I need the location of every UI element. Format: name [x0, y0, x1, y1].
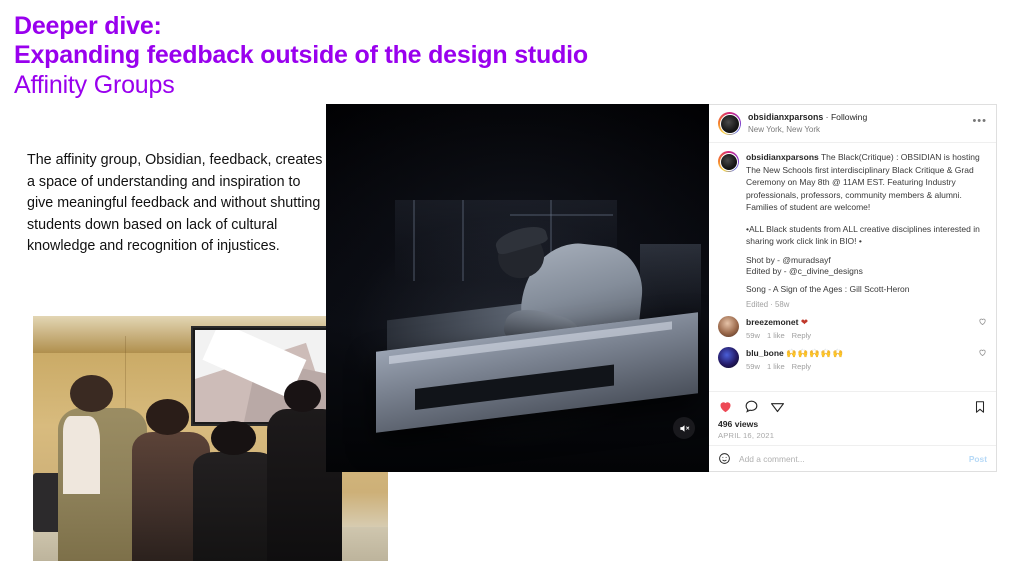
post-header-text: obsidianxparsons · Following New York, N…	[748, 112, 965, 135]
comment-meta: 59w 1 like Reply	[746, 331, 971, 340]
comment-meta: 59w 1 like Reply	[746, 362, 971, 371]
instagram-video[interactable]	[326, 104, 709, 472]
page-title: Deeper dive: Expanding feedback outside …	[14, 12, 714, 101]
comment-reply-button[interactable]: Reply	[792, 331, 811, 340]
header-separator: ·	[826, 112, 829, 122]
ellipsis-icon[interactable]: •••	[972, 117, 987, 130]
post-action-bar	[709, 391, 996, 419]
slide-canvas: Deeper dive: Expanding feedback outside …	[0, 0, 1024, 576]
share-paperplane-icon[interactable]	[770, 399, 785, 416]
person-head	[146, 399, 189, 435]
person-shirt	[63, 416, 100, 494]
comment-username[interactable]: breezemonet	[746, 317, 798, 327]
title-line-1: Deeper dive:	[14, 12, 714, 41]
avatar[interactable]	[718, 347, 739, 368]
avatar[interactable]	[718, 151, 739, 172]
avatar[interactable]	[718, 316, 739, 337]
comment-item: breezemonet ❤ 59w 1 like Reply	[718, 309, 987, 340]
comment-emoji: ❤	[801, 317, 808, 327]
person-head	[211, 421, 255, 455]
title-line-2: Expanding feedback outside of the design…	[14, 41, 714, 70]
comment-likes[interactable]: 1 like	[767, 362, 785, 371]
caption-text: obsidianxparsons The Black(Critique) : O…	[746, 151, 987, 214]
comment-content: blu_bone 🙌🙌🙌🙌🙌 59w 1 like Reply	[746, 347, 971, 371]
comment-likes[interactable]: 1 like	[767, 331, 785, 340]
person-body	[193, 452, 278, 561]
comment-emoji: 🙌🙌🙌🙌🙌	[786, 348, 844, 358]
caption-credit-song: Song - A Sign of the Ages : Gill Scott-H…	[718, 284, 987, 294]
heart-filled-icon[interactable]	[718, 399, 733, 416]
person-head	[70, 375, 113, 412]
heart-outline-icon[interactable]	[978, 316, 987, 329]
post-body: obsidianxparsons The Black(Critique) : O…	[709, 143, 996, 391]
caption-credit-shot-by: Shot by - @muradsayf	[718, 255, 987, 265]
view-count: 496 views	[709, 419, 996, 429]
body-paragraph: The affinity group, Obsidian, feedback, …	[27, 150, 327, 258]
caption-edited-meta: Edited · 58w	[718, 300, 987, 309]
caption-username[interactable]: obsidianxparsons	[746, 152, 819, 162]
post-username[interactable]: obsidianxparsons	[748, 112, 823, 122]
table-inset	[414, 365, 613, 411]
comment-time: 59w	[746, 362, 760, 371]
comment-bubble-icon[interactable]	[744, 399, 759, 416]
bookmark-icon[interactable]	[973, 400, 987, 416]
comment-item: blu_bone 🙌🙌🙌🙌🙌 59w 1 like Reply	[718, 340, 987, 371]
heart-outline-icon[interactable]	[978, 347, 987, 360]
add-comment-row: Add a comment... Post	[709, 445, 996, 471]
post-caption: obsidianxparsons The Black(Critique) : O…	[718, 143, 987, 216]
person-figure	[193, 421, 278, 561]
title-line-3: Affinity Groups	[14, 70, 714, 101]
speaker-muted-icon[interactable]	[673, 417, 695, 439]
comment-username[interactable]: blu_bone	[746, 348, 784, 358]
person-head	[284, 380, 321, 413]
following-button[interactable]: Following	[831, 112, 867, 122]
caption-paragraph-2: •ALL Black students from ALL creative di…	[718, 223, 987, 248]
comment-reply-button[interactable]: Reply	[792, 362, 811, 371]
comment-input[interactable]: Add a comment...	[739, 454, 961, 464]
post-date: APRIL 16, 2021	[709, 429, 996, 445]
comment-content: breezemonet ❤ 59w 1 like Reply	[746, 316, 971, 340]
instagram-post-sidebar: obsidianxparsons · Following New York, N…	[709, 104, 997, 472]
avatar[interactable]	[718, 112, 741, 135]
comment-time: 59w	[746, 331, 760, 340]
post-header: obsidianxparsons · Following New York, N…	[709, 105, 996, 143]
post-location[interactable]: New York, New York	[748, 125, 965, 135]
post-comment-button[interactable]: Post	[969, 454, 987, 464]
caption-credit-edited-by: Edited by - @c_divine_designs	[718, 265, 987, 278]
smiley-icon[interactable]	[718, 452, 731, 465]
